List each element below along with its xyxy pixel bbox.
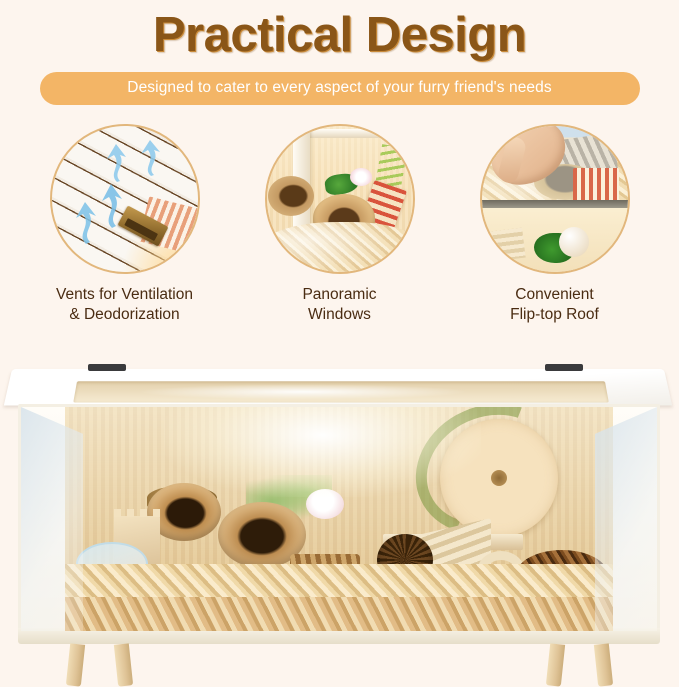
subtitle-text: Designed to cater to every aspect of you… [127, 79, 551, 97]
feature-label-line1: Convenient [510, 285, 599, 306]
subtitle-banner: Designed to cater to every aspect of you… [40, 72, 640, 105]
feature-item-ventilation: Vents for Ventilation & Deodorization [43, 124, 206, 326]
feature-label-line1: Panoramic [302, 285, 376, 306]
airflow-arrow-icon [98, 182, 124, 230]
glass-panel-left [21, 407, 83, 631]
cage-leg [594, 643, 613, 686]
panoramic-window-icon [265, 124, 415, 274]
feature-item-flip-top-roof: Convenient Flip-top Roof [473, 124, 636, 326]
cage-leg [114, 643, 133, 686]
header: Practical Design Designed to cater to ev… [0, 0, 679, 105]
bedding-front [65, 597, 613, 631]
cage-interior [65, 407, 613, 631]
feature-label-ventilation: Vents for Ventilation & Deodorization [56, 285, 193, 326]
feature-label-panoramic-windows: Panoramic Windows [302, 285, 376, 326]
cage-body [18, 404, 660, 634]
page-title: Practical Design [0, 8, 679, 63]
feature-label-line2: Flip-top Roof [510, 305, 599, 326]
hinge-icon [88, 364, 126, 371]
feature-label-flip-top-roof: Convenient Flip-top Roof [510, 285, 599, 326]
feature-label-line1: Vents for Ventilation [56, 285, 193, 306]
hinge-icon [545, 364, 583, 371]
airflow-arrow-icon [138, 138, 162, 178]
cage-lid [4, 369, 672, 406]
airflow-arrow-icon [104, 142, 128, 184]
cage-leg [66, 643, 85, 686]
cage-leg [546, 643, 565, 686]
feature-item-panoramic-windows: Panoramic Windows [258, 124, 421, 326]
feature-label-line2: Windows [302, 305, 376, 326]
ventilation-airflow-icon [50, 124, 200, 274]
interior-light [164, 404, 482, 497]
feature-label-line2: & Deodorization [56, 305, 193, 326]
feature-list: Vents for Ventilation & Deodorization Pa… [0, 124, 679, 326]
airflow-arrow-icon [72, 200, 98, 246]
glass-panel-right [595, 407, 657, 631]
product-photo [0, 362, 679, 679]
flip-top-roof-icon [480, 124, 630, 274]
